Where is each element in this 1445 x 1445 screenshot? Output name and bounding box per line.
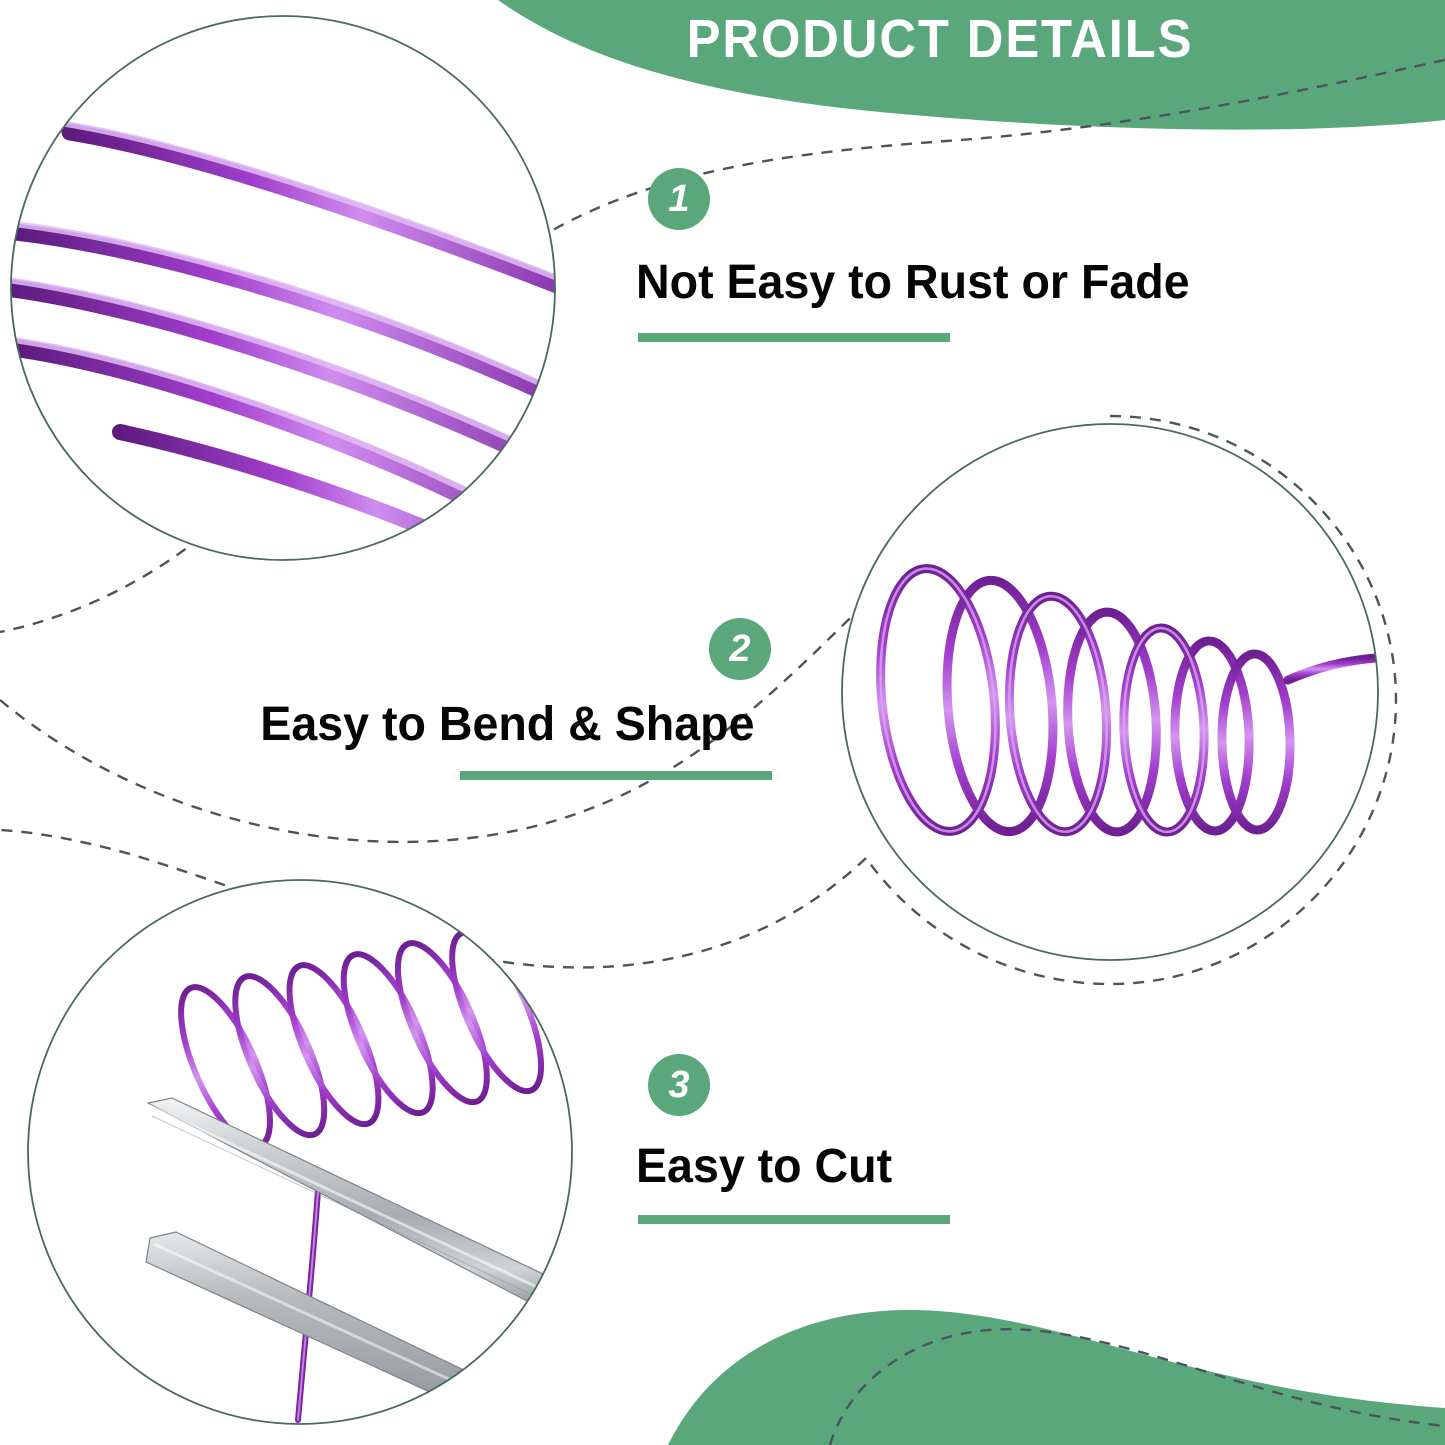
- feature-title-3: Easy to Cut: [636, 1142, 892, 1192]
- photo-circle-wire-strands: [8, 16, 600, 606]
- feature-title-2: Easy to Bend & Shape: [260, 700, 754, 750]
- footer-wave: [668, 1310, 1445, 1445]
- photo-circle-coiled-spring: [842, 424, 1378, 960]
- feature-rule-1: [638, 333, 950, 342]
- feature-title-1: Not Easy to Rust or Fade: [636, 258, 1190, 308]
- feature-badge-1: 1: [648, 168, 710, 230]
- feature-badge-2: 2: [709, 618, 771, 680]
- feature-badge-3: 3: [648, 1054, 710, 1116]
- feature-rule-2: [460, 771, 772, 780]
- page-title: PRODUCT DETAILS: [630, 8, 1250, 70]
- feature-rule-3: [638, 1215, 950, 1224]
- product-details-infographic: PRODUCT DETAILS 1 Not Easy to Rust or Fa…: [0, 0, 1445, 1445]
- photo-circle-cutting-wire: [28, 866, 572, 1445]
